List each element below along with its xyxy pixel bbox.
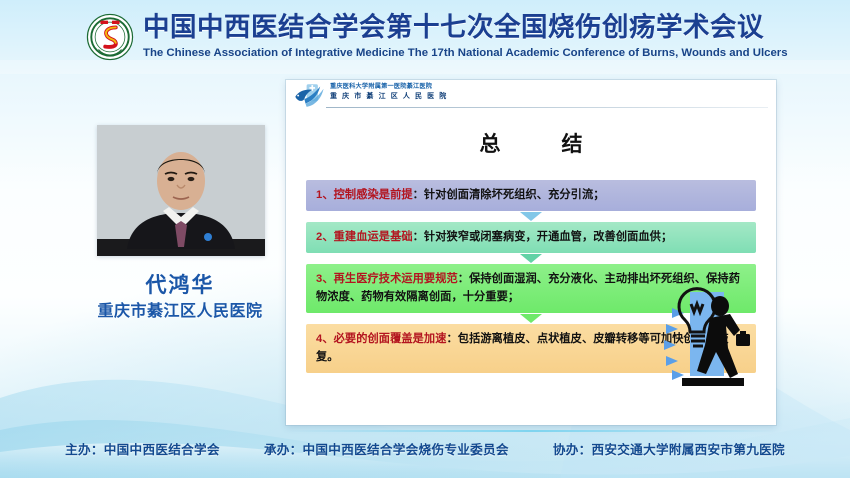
conference-title-chinese: 中国中西医结合学会第十七次全国烧伤创疡学术会议 <box>143 10 783 44</box>
summary-item-2: 2、重建血运是基础：针对狭窄或闭塞病变，开通血管，改善创面血供； <box>306 222 756 263</box>
footer-host: 主办：中国中西医结合学会 <box>65 439 220 458</box>
hospital-name-line2: 重 庆 市 綦 江 区 人 民 医 院 <box>330 92 448 101</box>
summary-item-1: 1、控制感染是前提：针对创面清除坏死组织、充分引流； <box>306 180 756 221</box>
hospital-dove-icon <box>293 82 327 108</box>
summary-box-4-lead: 必要的创面覆盖是加速 <box>334 333 447 345</box>
summary-box-1: 1、控制感染是前提：针对创面清除坏死组织、充分引流； <box>306 180 756 211</box>
lightbulb-businessman-icon <box>652 278 752 390</box>
footer-coorganizer: 协办：西安交通大学附属西安市第九医院 <box>553 439 785 458</box>
hospital-name-line1: 重庆医科大学附属第一医院綦江医院 <box>330 83 448 91</box>
summary-box-4-index: 4、 <box>316 333 334 345</box>
conference-title-block: 中国中西医结合学会第十七次全国烧伤创疡学术会议 The Chinese Asso… <box>143 10 783 61</box>
summary-box-2-index: 2、 <box>316 231 334 243</box>
sponsor-footer: 主办：中国中西医结合学会 承办：中国中西医结合学会烧伤专业委员会 协办：西安交通… <box>0 434 850 462</box>
header-divider <box>326 107 768 108</box>
hospital-name-block: 重庆医科大学附属第一医院綦江医院 重 庆 市 綦 江 区 人 民 医 院 <box>330 83 448 101</box>
speaker-webcam-image <box>97 125 265 256</box>
association-emblem-icon <box>86 13 134 61</box>
slide-hospital-header: 重庆医科大学附属第一医院綦江医院 重 庆 市 綦 江 区 人 民 医 院 <box>286 80 776 108</box>
conference-header: 中国中西医结合学会第十七次全国烧伤创疡学术会议 The Chinese Asso… <box>0 0 850 72</box>
flow-arrow-2-icon <box>520 254 542 263</box>
summary-box-1-body: ：针对创面清除坏死组织、充分引流； <box>413 189 605 201</box>
summary-box-3-lead: 再生医疗技术运用要规范 <box>334 273 458 285</box>
summary-box-1-index: 1、 <box>316 189 334 201</box>
footer-highlight-line <box>286 430 776 432</box>
summary-box-3-index: 3、 <box>316 273 334 285</box>
summary-box-2: 2、重建血运是基础：针对狭窄或闭塞病变，开通血管，改善创面血供； <box>306 222 756 253</box>
flow-arrow-1-icon <box>520 212 542 221</box>
summary-box-1-lead: 控制感染是前提 <box>334 189 413 201</box>
summary-box-2-lead: 重建血运是基础 <box>334 231 413 243</box>
slide-title: 总 结 <box>286 128 776 158</box>
speaker-video-tile[interactable] <box>97 125 265 256</box>
conference-title-english: The Chinese Association of Integrative M… <box>143 45 783 61</box>
footer-organizer: 承办：中国中西医结合学会烧伤专业委员会 <box>264 439 509 458</box>
flow-arrow-3-icon <box>520 314 542 323</box>
summary-box-2-body: ：针对狭窄或闭塞病变，开通血管，改善创面血供； <box>413 231 673 243</box>
conference-broadcast-screen: 中国中西医结合学会第十七次全国烧伤创疡学术会议 The Chinese Asso… <box>0 0 850 478</box>
